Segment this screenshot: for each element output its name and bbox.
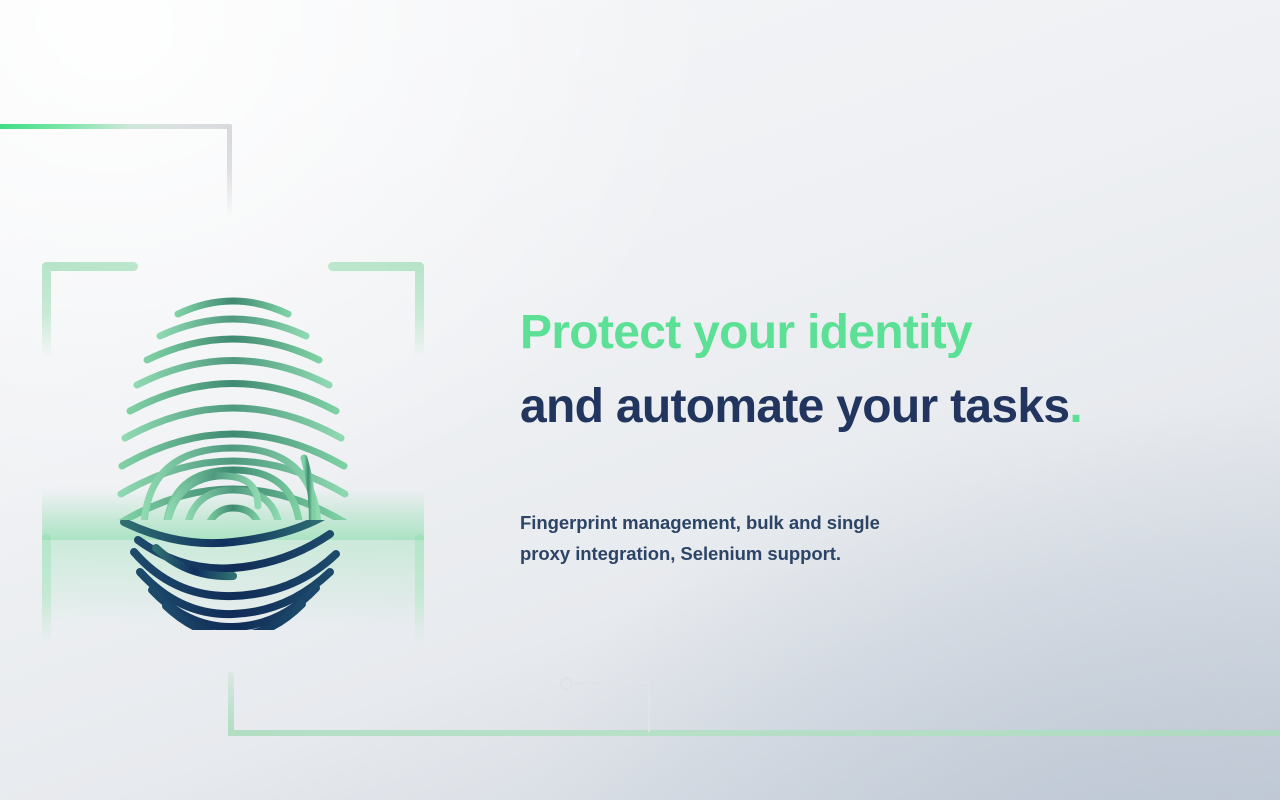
- hero-subtitle-line-2: proxy integration, Selenium support.: [520, 538, 1220, 569]
- headline-line-2-text: and automate your tasks: [520, 380, 1069, 433]
- decorative-bracket-bottom-vertical: [228, 672, 234, 736]
- decorative-line-top-horizontal: [0, 124, 232, 129]
- headline-accent-period: .: [1069, 380, 1082, 433]
- decorative-node-line-horizontal: [572, 682, 650, 684]
- hero-copy: Protect your identity and automate your …: [520, 296, 1220, 569]
- decorative-node-line-vertical: [648, 682, 650, 732]
- fingerprint-icon: [108, 280, 358, 630]
- hero-subtitle-line-1: Fingerprint management, bulk and single: [520, 507, 1220, 538]
- decorative-line-top-vertical: [227, 126, 232, 218]
- decorative-bracket-bottom-horizontal: [228, 730, 1280, 736]
- headline-line-2: and automate your tasks.: [520, 370, 1220, 444]
- headline-line-1: Protect your identity: [520, 296, 1220, 370]
- fingerprint-scanner-graphic: [42, 262, 424, 644]
- hero-subtitle: Fingerprint management, bulk and single …: [520, 507, 1220, 569]
